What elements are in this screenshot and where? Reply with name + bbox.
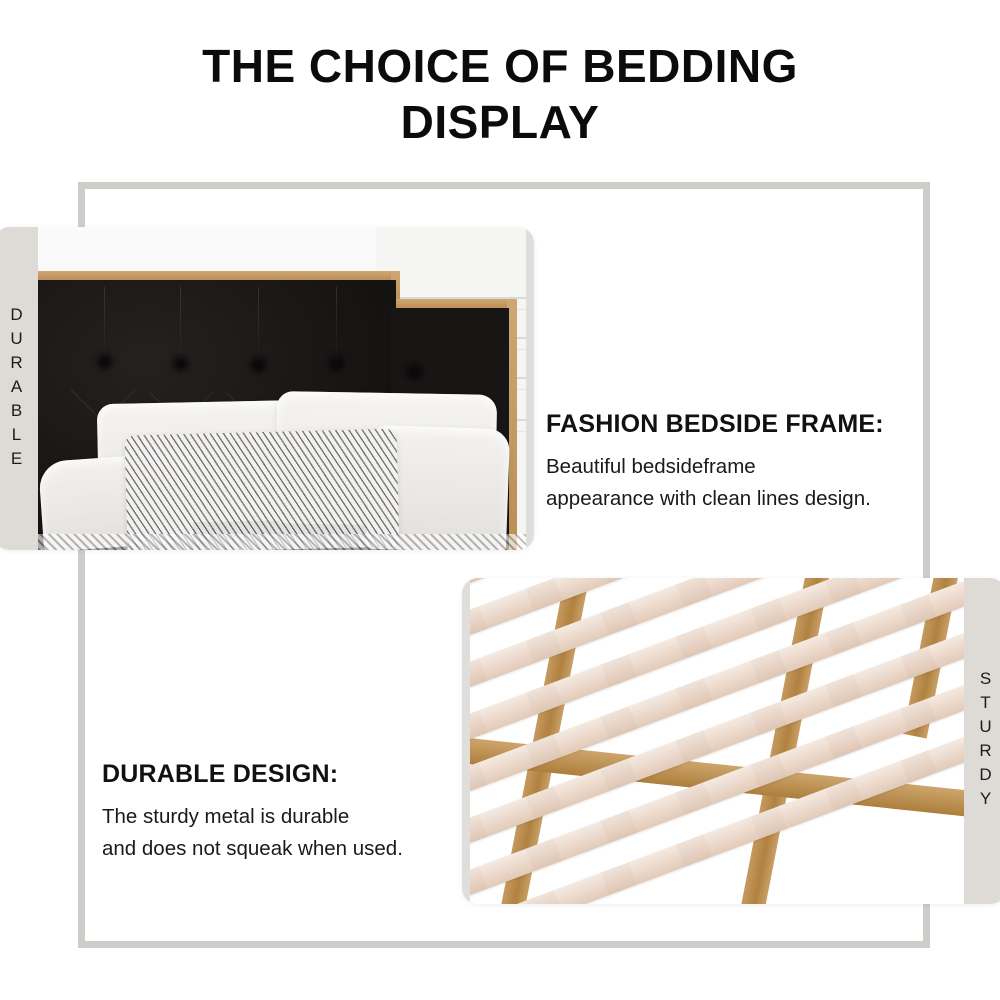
callout-body: Beautiful bedsideframe appearance with c…	[546, 451, 884, 515]
bed-skirt-trim	[38, 534, 526, 550]
callout-fashion-bedside-frame: FASHION BEDSIDE FRAME: Beautiful bedside…	[546, 410, 884, 515]
gold-frame-top-right	[391, 299, 516, 308]
tuft-seam	[336, 287, 337, 359]
callout-body-line-2: and does not squeak when used.	[102, 833, 403, 865]
headboard-illustration	[38, 227, 526, 550]
slats-photo-card: STURDY	[462, 578, 1000, 904]
callout-heading: FASHION BEDSIDE FRAME:	[546, 410, 884, 439]
pillow-herringbone	[125, 428, 400, 550]
product-feature-poster: THE CHOICE OF BEDDING DISPLAY DURABLE	[0, 0, 1000, 1000]
callout-body-line-1: The sturdy metal is durable	[102, 801, 403, 833]
callout-body-line-2: appearance with clean lines design.	[546, 483, 884, 515]
gold-frame-top-left	[38, 271, 400, 280]
durable-side-label: DURABLE	[6, 305, 26, 473]
page-title: THE CHOICE OF BEDDING DISPLAY	[0, 38, 1000, 150]
headboard-photo-viewport	[38, 227, 526, 550]
sturdy-side-band: STURDY	[964, 578, 1000, 904]
tuft-button	[410, 367, 419, 376]
page-title-line-1: THE CHOICE OF BEDDING	[0, 38, 1000, 94]
slats-photo-viewport	[470, 578, 964, 904]
slats-illustration	[470, 578, 964, 904]
tuft-seam	[104, 287, 105, 357]
callout-body: The sturdy metal is durable and does not…	[102, 801, 403, 865]
tuft-seam	[258, 287, 259, 360]
callout-heading: DURABLE DESIGN:	[102, 760, 403, 789]
durable-side-band: DURABLE	[0, 227, 38, 550]
page-title-line-2: DISPLAY	[0, 94, 1000, 150]
sturdy-side-label: STURDY	[975, 669, 995, 813]
callout-durable-design: DURABLE DESIGN: The sturdy metal is dura…	[102, 760, 403, 865]
tuft-seam	[180, 287, 181, 359]
callout-body-line-1: Beautiful bedsideframe	[546, 451, 884, 483]
headboard-photo-card: DURABLE	[0, 227, 534, 550]
